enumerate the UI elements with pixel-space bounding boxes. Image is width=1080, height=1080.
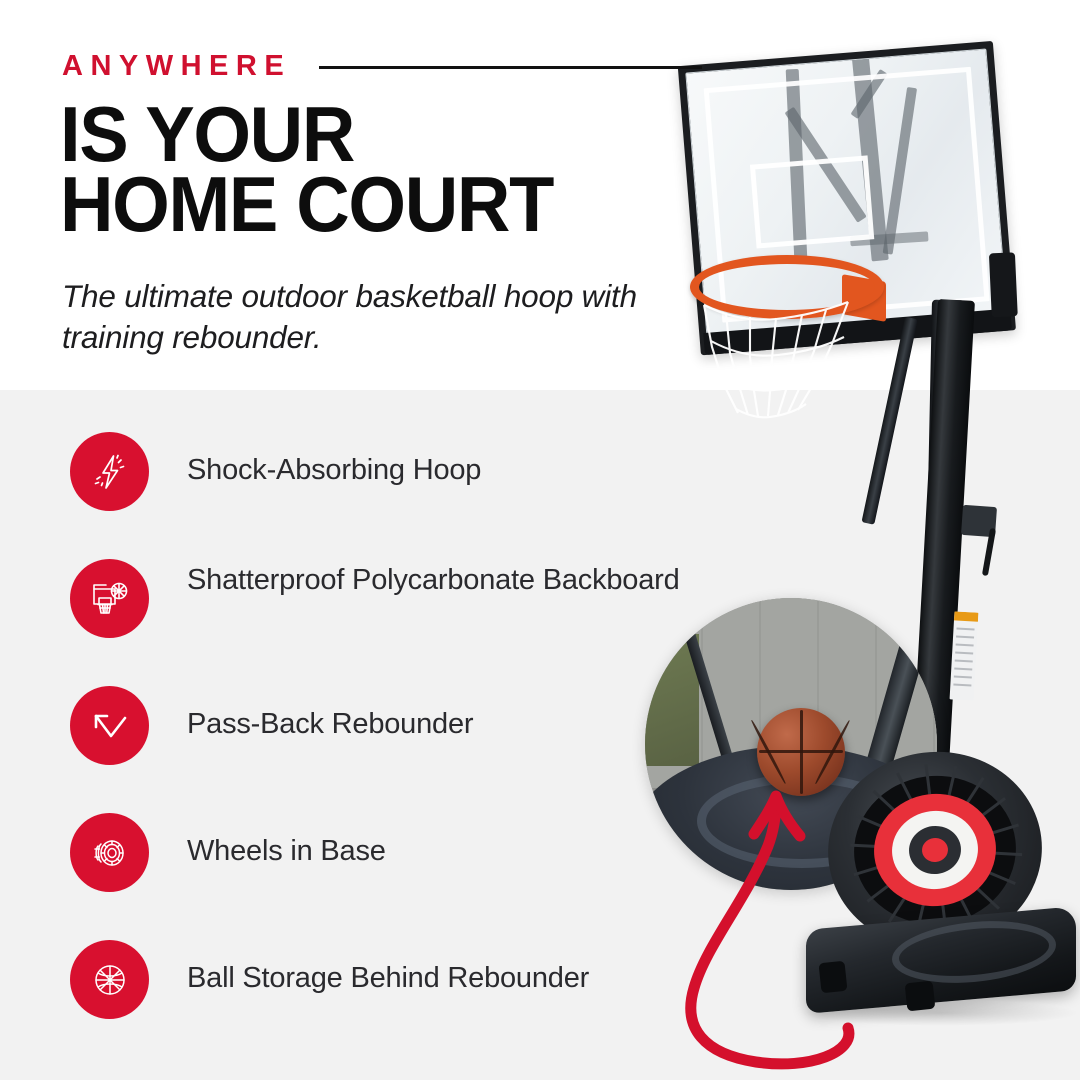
wheel-icon — [70, 813, 149, 892]
headline-line-2: HOME COURT — [60, 169, 725, 239]
feature-item-wheels-in-base: Wheels in Base — [70, 813, 690, 940]
feature-item-pass-back-rebounder: Pass-Back Rebounder — [70, 686, 690, 813]
feature-list: Shock-Absorbing Hoop — [70, 432, 690, 1067]
eyebrow-row: ANYWHERE — [62, 52, 702, 81]
product-feature-graphic: ANYWHERE IS YOUR HOME COURT The ultimate… — [0, 0, 1080, 1080]
backboard-hoop-icon — [70, 559, 149, 638]
feature-item-shatterproof-backboard: Shatterproof Polycarbonate Backboard — [70, 559, 690, 686]
page-title: IS YOUR HOME COURT — [60, 99, 725, 239]
bounce-arrow-icon — [70, 686, 149, 765]
feature-label: Wheels in Base — [187, 834, 687, 869]
eyebrow-label: ANYWHERE — [62, 52, 291, 81]
eyebrow-divider — [319, 66, 702, 69]
feature-item-ball-storage: Ball Storage Behind Rebounder — [70, 940, 690, 1067]
subtitle: The ultimate outdoor basketball hoop wit… — [62, 276, 662, 358]
lightning-bolt-icon — [70, 432, 149, 511]
feature-label: Shock-Absorbing Hoop — [187, 453, 687, 488]
feature-label: Shatterproof Polycarbonate Backboard — [187, 563, 687, 598]
feature-label: Pass-Back Rebounder — [187, 707, 687, 742]
feature-item-shock-absorbing-hoop: Shock-Absorbing Hoop — [70, 432, 690, 559]
feature-label: Ball Storage Behind Rebounder — [187, 961, 687, 996]
basketball-icon — [70, 940, 149, 1019]
